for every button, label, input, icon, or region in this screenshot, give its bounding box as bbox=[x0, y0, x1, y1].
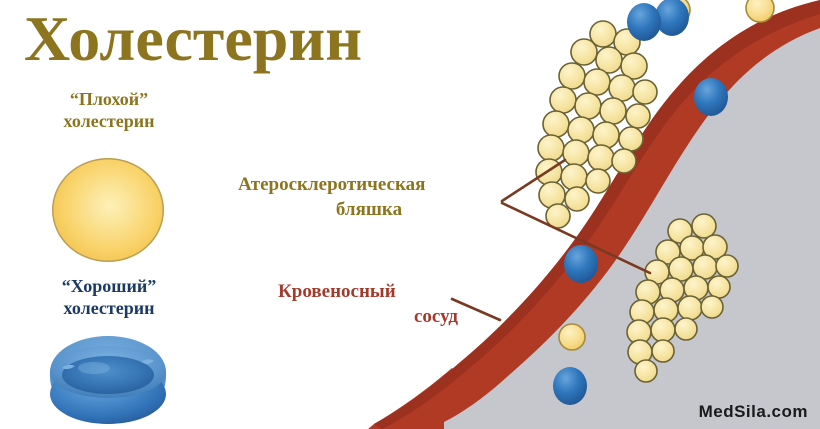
bad-cholesterol-label: “Плохой” холестерин bbox=[0, 88, 218, 132]
plaque-callout-line1: Атеросклеротическая bbox=[238, 172, 500, 197]
vessel-callout-label: Кровеносный сосуд bbox=[278, 279, 468, 329]
atherosclerotic-plaque-upper bbox=[536, 20, 677, 240]
vessel-callout-line2: сосуд bbox=[278, 304, 468, 329]
good-cholesterol-label: “Хороший” холестерин bbox=[0, 275, 218, 319]
vessel-callout-line1: Кровеносный bbox=[278, 279, 468, 304]
plaque-callout-line2: бляшка bbox=[238, 197, 500, 222]
bad-cholesterol-label-line2: холестерин bbox=[64, 111, 155, 131]
poster-canvas: Холестерин “Плохой” холестерин “Хороший”… bbox=[0, 0, 820, 429]
bad-cholesterol-label-line1: “Плохой” bbox=[70, 89, 148, 109]
ldl-sphere-icon bbox=[52, 158, 164, 262]
good-cholesterol-label-line2: холестерин bbox=[64, 298, 155, 318]
page-title: Холестерин bbox=[24, 2, 362, 76]
hdl-bowl-icon bbox=[46, 332, 170, 424]
good-cholesterol-label-line1: “Хороший” bbox=[62, 276, 156, 296]
hdl-particle-top bbox=[627, 3, 661, 41]
watermark: MedSila.com bbox=[699, 402, 808, 422]
plaque-callout-label: Атеросклеротическая бляшка bbox=[238, 172, 500, 222]
